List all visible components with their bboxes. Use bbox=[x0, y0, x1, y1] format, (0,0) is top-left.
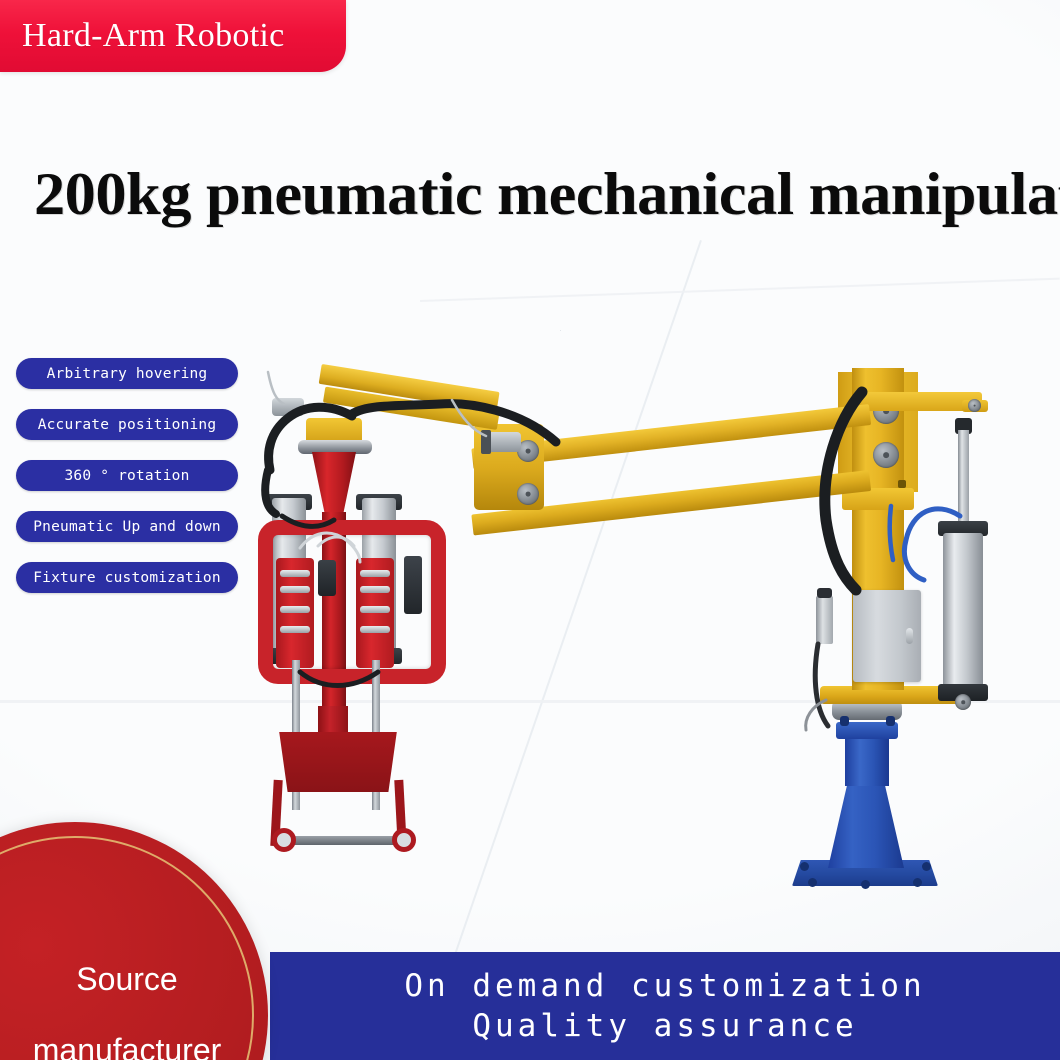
seal-text: Source manufacturer bbox=[0, 822, 268, 1060]
arm-anchor-pin bbox=[968, 399, 981, 412]
base-cone bbox=[828, 782, 904, 868]
clamp-bolt bbox=[280, 586, 310, 593]
black-hose-lower bbox=[815, 644, 828, 726]
feature-label: Arbitrary hovering bbox=[47, 366, 208, 382]
feature-badge-list: Arbitrary hovering Accurate positioning … bbox=[16, 358, 238, 593]
seal-line-1: Source bbox=[76, 961, 177, 998]
clamp-bolt bbox=[360, 586, 390, 593]
base-bolt bbox=[861, 880, 870, 889]
footer-line-1: On demand customization bbox=[404, 966, 925, 1006]
balance-cylinder-pivot bbox=[955, 694, 971, 710]
clamp-bolt bbox=[360, 626, 390, 633]
gripper-side-block-right bbox=[404, 556, 422, 614]
mast-bolt bbox=[898, 480, 906, 488]
feature-badge-hovering: Arbitrary hovering bbox=[16, 358, 238, 389]
elbow-pivot-disc-lower bbox=[517, 483, 539, 505]
tong-body bbox=[268, 732, 408, 792]
base-bolt bbox=[922, 862, 931, 871]
tong-clevis-left bbox=[272, 828, 296, 852]
balance-cylinder-rod bbox=[958, 430, 969, 525]
flange-bolt bbox=[886, 716, 895, 726]
mast-pivot-disc-lower bbox=[873, 442, 899, 468]
base-bolt bbox=[800, 862, 809, 871]
elbow-damper-cap bbox=[481, 430, 491, 454]
feature-badge-fixture: Fixture customization bbox=[16, 562, 238, 593]
clamp-bolt bbox=[280, 626, 310, 633]
flange-bolt bbox=[840, 716, 849, 726]
source-manufacturer-seal: Source manufacturer bbox=[0, 822, 268, 1060]
clamp-bolt bbox=[280, 570, 310, 577]
balance-cylinder-body bbox=[943, 533, 983, 688]
footer-banner: On demand customization Quality assuranc… bbox=[270, 952, 1060, 1060]
regulator-knob bbox=[817, 588, 832, 598]
clamp-bolt bbox=[360, 606, 390, 613]
feature-label: Fixture customization bbox=[33, 570, 221, 586]
air-filter-regulator bbox=[816, 596, 833, 644]
gripper-cone-bracket bbox=[312, 452, 356, 516]
feature-badge-positioning: Accurate positioning bbox=[16, 409, 238, 440]
seal-line-2: manufacturer bbox=[33, 1032, 222, 1060]
feature-label: Accurate positioning bbox=[38, 417, 217, 433]
base-bolt bbox=[913, 878, 922, 887]
feature-label: Pneumatic Up and down bbox=[33, 519, 221, 535]
cable-to-base bbox=[806, 700, 826, 730]
tong-clevis-right bbox=[392, 828, 416, 852]
swivel-bearing bbox=[298, 440, 372, 454]
feature-badge-rotation: 360 ° rotation bbox=[16, 460, 238, 491]
base-bolt bbox=[808, 878, 817, 887]
page-title: 200kg pneumatic mechanical manipulato bbox=[34, 160, 1060, 229]
control-box-latch bbox=[906, 628, 913, 644]
feature-label: 360 ° rotation bbox=[64, 468, 189, 484]
clamp-bolt bbox=[280, 606, 310, 613]
arm-end-damper bbox=[272, 398, 304, 416]
footer-line-2: Quality assurance bbox=[472, 1006, 857, 1046]
clamp-bolt bbox=[360, 570, 390, 577]
tong-cross-link bbox=[278, 836, 402, 845]
elbow-damper bbox=[487, 432, 521, 452]
brand-banner: Hard-Arm Robotic bbox=[0, 0, 346, 72]
poster-canvas: Hard-Arm Robotic 200kg pneumatic mechani… bbox=[0, 0, 1060, 1060]
brand-name: Hard-Arm Robotic bbox=[0, 17, 285, 55]
gripper-side-block-left bbox=[318, 560, 336, 596]
feature-badge-pneumatic: Pneumatic Up and down bbox=[16, 511, 238, 542]
